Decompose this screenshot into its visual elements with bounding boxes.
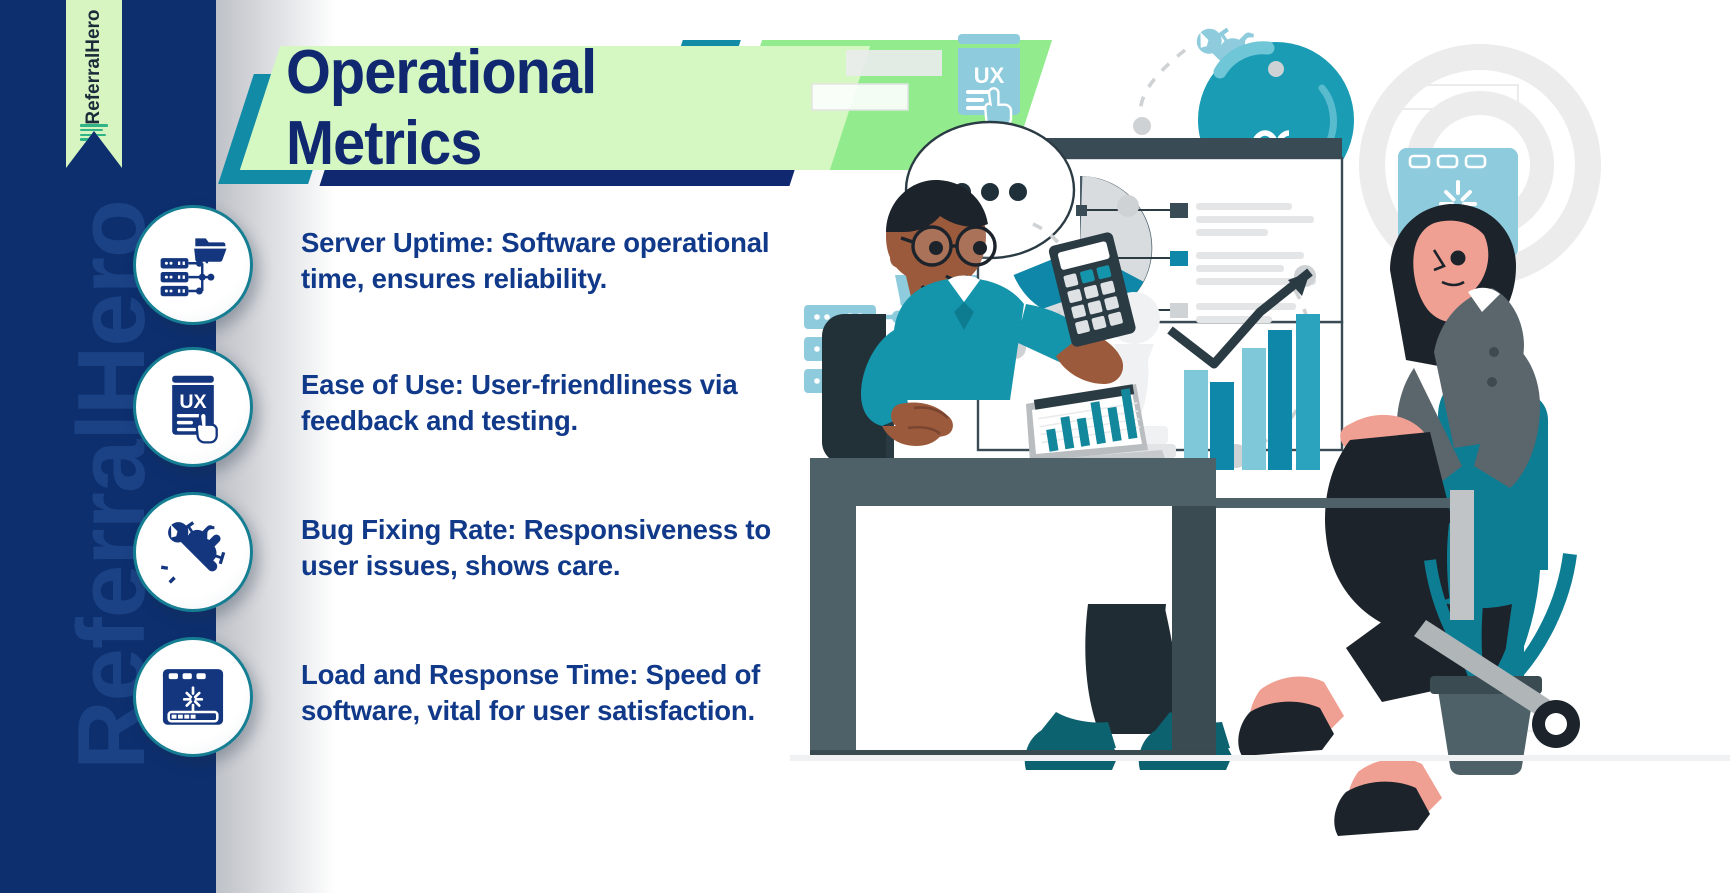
illustration: UX [790, 0, 1730, 893]
metric-icon-badge [133, 205, 253, 325]
svg-text:UX: UX [179, 391, 206, 413]
page-title: Operational Metrics [286, 62, 788, 154]
metric-icon-badge: UX [133, 347, 253, 467]
floor-line [790, 755, 1730, 761]
metric-item-text: Ease of Use: User-friendliness via feedb… [301, 367, 801, 439]
metric-icon-badge [133, 492, 253, 612]
infographic-canvas: ReferralHero ReferralHero Operational Me… [0, 0, 1730, 893]
ux-mobile-icon-watermark: UX [958, 34, 1020, 126]
ux-mobile-icon: UX [156, 370, 230, 444]
desk-right-edge [1216, 498, 1466, 508]
metric-item-text: Server Uptime: Software operational time… [301, 225, 801, 297]
page-load-icon [156, 660, 230, 734]
brand-watermark: ReferralHero [57, 105, 167, 865]
server-rack-icon [156, 228, 230, 302]
svg-text:UX: UX [974, 63, 1005, 88]
illustration-svg: UX [790, 0, 1730, 893]
metric-item-text: Load and Response Time: Speed of softwar… [301, 657, 801, 729]
metric-icon-badge [133, 637, 253, 757]
bug-wrench-icon [156, 515, 230, 589]
title-banner: Operational Metrics [236, 18, 866, 188]
metric-item-text: Bug Fixing Rate: Responsiveness to user … [301, 512, 801, 584]
